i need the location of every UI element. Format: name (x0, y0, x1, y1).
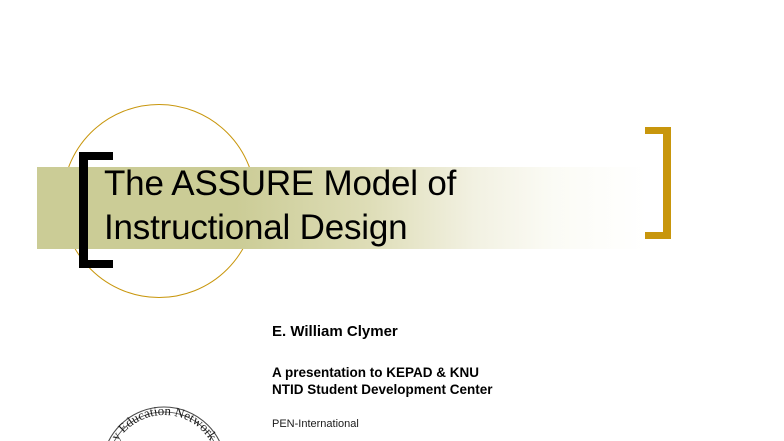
presenter-name: E. William Clymer (272, 322, 493, 342)
left-bracket-stem (79, 152, 88, 268)
slide-title-line-2: Instructional Design (104, 206, 664, 250)
byline-block: E. William Clymer A presentation to KEPA… (272, 322, 493, 431)
presentation-line-1: A presentation to KEPAD & KNU (272, 364, 493, 381)
presentation-context: A presentation to KEPAD & KNU NTID Stude… (272, 364, 493, 398)
pen-international-logo: y Education Network R·I·T (98, 399, 230, 441)
presentation-slide: The ASSURE Model of Instructional Design… (0, 0, 784, 441)
left-bracket-bottom-arm (79, 260, 113, 268)
presentation-line-2: NTID Student Development Center (272, 381, 493, 398)
slide-title: The ASSURE Model of Instructional Design (104, 162, 664, 250)
organization-name: PEN-International (272, 417, 493, 431)
right-bracket-stem (663, 127, 671, 239)
slide-title-line-1: The ASSURE Model of (104, 162, 664, 206)
